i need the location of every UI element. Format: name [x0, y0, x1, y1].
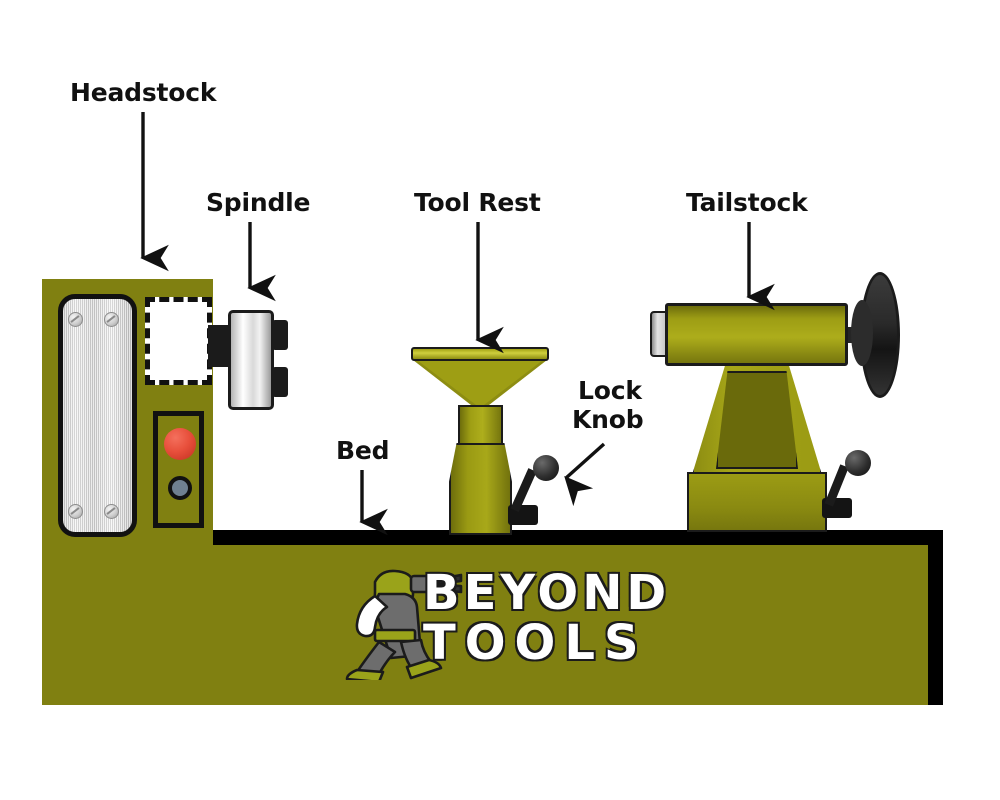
cabinet-right-edge [928, 530, 943, 705]
lathe-diagram: BEYOND TOOLS Headstock Spindle Tool Rest… [0, 0, 1000, 800]
logo-wordmark: BEYOND TOOLS [423, 568, 670, 668]
pulley-access-panel [145, 297, 212, 385]
screw-icon [104, 312, 119, 327]
label-spindle: Spindle [206, 190, 310, 216]
tool-rest-neck [458, 405, 503, 445]
headstock-cover-plate [58, 294, 137, 537]
screw-icon [68, 504, 83, 519]
label-tailstock: Tailstock [686, 190, 808, 216]
brand-logo: BEYOND TOOLS [335, 560, 655, 680]
tool-rest-lock-knob[interactable] [533, 455, 559, 481]
label-headstock: Headstock [70, 80, 216, 106]
lathe-bed [213, 530, 943, 545]
label-lock-knob-line2: Knob [572, 407, 643, 433]
secondary-button[interactable] [168, 476, 192, 500]
tailstock-lock-knob[interactable] [845, 450, 871, 476]
screw-icon [104, 504, 119, 519]
screw-icon [68, 312, 83, 327]
tailstock-barrel [665, 303, 848, 366]
spindle-lug-bottom [272, 367, 288, 397]
tailstock-handwheel-hub [851, 300, 873, 366]
tool-rest-surface [411, 347, 549, 361]
tailstock-base [687, 472, 827, 532]
tool-rest-base [449, 443, 512, 535]
label-lock-knob-line1: Lock [578, 378, 642, 404]
tool-rest-cone [417, 360, 543, 408]
spindle-lug-top [272, 320, 288, 350]
tailstock-neck-inset [716, 371, 798, 469]
label-bed: Bed [336, 438, 389, 464]
spindle-body [228, 310, 274, 410]
logo-line-2: TOOLS [423, 618, 670, 668]
stop-button[interactable] [164, 428, 196, 460]
logo-line-1: BEYOND [423, 565, 670, 621]
label-tool-rest: Tool Rest [414, 190, 541, 216]
